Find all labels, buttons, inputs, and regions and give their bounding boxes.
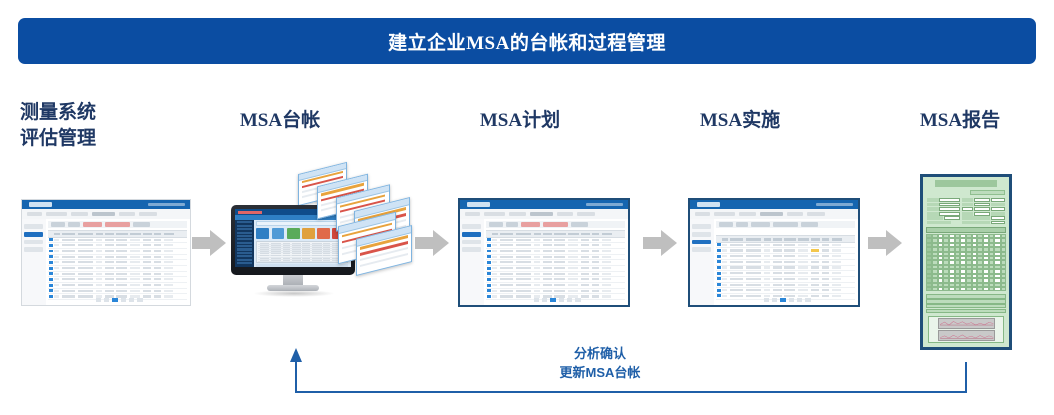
- sidebar-item[interactable]: [462, 240, 481, 245]
- table-cell: [534, 284, 541, 286]
- table-cell: [500, 267, 512, 269]
- filter-control[interactable]: [801, 222, 818, 227]
- table-column-header: [568, 233, 578, 236]
- table-cell: [798, 244, 808, 246]
- table-cell: [773, 244, 781, 246]
- table-cell: [773, 278, 781, 280]
- kpi-tile[interactable]: [256, 228, 269, 239]
- table-cell: [143, 284, 151, 286]
- row-checkbox[interactable]: [487, 272, 491, 275]
- table-cell: [543, 256, 551, 258]
- table-cell: [105, 284, 113, 286]
- table-cell: [500, 273, 512, 275]
- row-checkbox[interactable]: [49, 284, 53, 287]
- page-button[interactable]: [772, 298, 778, 302]
- table-cell: [96, 250, 103, 252]
- table-cell: [164, 244, 174, 246]
- table-cell: [154, 250, 161, 252]
- table-cell: [568, 250, 578, 252]
- table-cell: [534, 261, 541, 263]
- row-checkbox[interactable]: [49, 267, 53, 270]
- table-cell: [62, 284, 74, 286]
- dashboard-table-cell: [302, 251, 310, 252]
- report-input-field: [991, 207, 1005, 211]
- dashboard-sidebar-item[interactable]: [237, 221, 252, 223]
- table-cell: [143, 278, 151, 280]
- table-cell: [730, 249, 742, 251]
- row-checkbox[interactable]: [487, 289, 491, 292]
- stage-label-measurement-system-evaluation: 测量系统 评估管理: [20, 100, 160, 151]
- table-cell: [784, 266, 795, 268]
- filter-control[interactable]: [51, 222, 65, 227]
- table-cell: [746, 272, 761, 274]
- kpi-tile[interactable]: [272, 228, 285, 239]
- app-filter-bar: [486, 221, 625, 229]
- kpi-tile[interactable]: [302, 228, 315, 239]
- table-cell: [543, 261, 551, 263]
- dashboard-table-cell: [260, 253, 269, 254]
- flow-arrow-2: [415, 230, 449, 256]
- table-cell: [581, 284, 589, 286]
- row-checkbox[interactable]: [717, 277, 721, 280]
- table-column-header: [592, 233, 600, 236]
- table-cell: [773, 261, 781, 263]
- report-field-label: [927, 203, 938, 207]
- table-cell: [116, 290, 127, 292]
- table-cell: [784, 249, 795, 251]
- dashboard-sidebar-item[interactable]: [237, 255, 252, 257]
- table-cell: [105, 244, 113, 246]
- sidebar-item[interactable]: [24, 224, 43, 229]
- stage-thumbnail-msa-plan[interactable]: [460, 200, 628, 305]
- table-cell: [54, 250, 60, 252]
- table-cell: [764, 284, 771, 286]
- dashboard-sidebar-item[interactable]: [237, 252, 252, 254]
- table-cell: [784, 244, 795, 246]
- table-cell: [722, 244, 728, 246]
- app-tab[interactable]: [509, 212, 526, 216]
- table-cell: [143, 250, 151, 252]
- row-checkbox[interactable]: [49, 261, 53, 264]
- dashboard-toolbar: [256, 221, 348, 226]
- table-cell: [746, 284, 761, 286]
- sidebar-item[interactable]: [692, 240, 711, 245]
- dashboard-table-cell: [323, 260, 330, 261]
- table-cell: [773, 249, 781, 251]
- table-cell: [516, 267, 531, 269]
- row-checkbox[interactable]: [717, 243, 721, 246]
- table-cell: [534, 239, 541, 241]
- app-tab[interactable]: [739, 212, 756, 216]
- table-column-header: [130, 233, 140, 236]
- filter-control[interactable]: [83, 222, 102, 227]
- table-cell: [773, 289, 781, 291]
- report-field-label: [962, 198, 973, 202]
- app-tab[interactable]: [92, 212, 116, 216]
- sidebar-item[interactable]: [24, 232, 43, 237]
- dashboard-table-cell: [271, 260, 282, 261]
- table-cell: [492, 261, 498, 263]
- app-tab[interactable]: [557, 212, 572, 216]
- table-cell: [534, 250, 541, 252]
- kpi-tile[interactable]: [317, 228, 330, 239]
- table-cell: [568, 267, 578, 269]
- page-button[interactable]: [559, 298, 565, 302]
- table-column-header: [164, 233, 174, 236]
- table-cell: [730, 266, 742, 268]
- row-checkbox[interactable]: [717, 283, 721, 286]
- table-cell: [62, 290, 74, 292]
- dashboard-table-cell: [260, 258, 269, 259]
- table-cell: [130, 250, 140, 252]
- dashboard-sidebar-item[interactable]: [237, 228, 252, 230]
- table-cell: [773, 284, 781, 286]
- table-cell: [143, 267, 151, 269]
- title-banner: 建立企业MSA的台帐和过程管理: [18, 18, 1036, 64]
- table-cell: [62, 239, 74, 241]
- table-cell: [730, 244, 742, 246]
- table-cell: [130, 239, 140, 241]
- dashboard-table-cell: [271, 251, 282, 252]
- table-cell: [554, 244, 565, 246]
- report-summary-row: [926, 299, 1007, 303]
- dashboard-sidebar-item[interactable]: [237, 262, 252, 264]
- report-input-field: [939, 198, 960, 202]
- table-cell: [543, 290, 551, 292]
- sidebar-item[interactable]: [462, 247, 481, 252]
- app-tab[interactable]: [760, 212, 784, 216]
- row-checkbox[interactable]: [49, 289, 53, 292]
- dashboard-table-cell: [302, 260, 310, 261]
- arrow-head: [661, 230, 677, 256]
- row-checkbox[interactable]: [487, 238, 491, 241]
- row-checkbox[interactable]: [487, 267, 491, 270]
- report-header-form: [926, 197, 1007, 224]
- sidebar-item[interactable]: [462, 224, 481, 229]
- app-tab[interactable]: [484, 212, 504, 216]
- table-cell: [832, 249, 842, 251]
- table-cell: [154, 290, 161, 292]
- table-cell: [592, 239, 599, 241]
- filter-control[interactable]: [719, 222, 733, 227]
- table-cell: [822, 266, 829, 268]
- sidebar-item[interactable]: [24, 240, 43, 245]
- report-input-field: [974, 203, 990, 207]
- table-cell: [534, 273, 541, 275]
- table-cell: [500, 256, 512, 258]
- report-field-label: [991, 212, 1005, 216]
- dashboard-table-cell: [283, 249, 290, 250]
- table-cell: [130, 284, 140, 286]
- report-field-label: [962, 216, 990, 220]
- arrow-head: [886, 230, 902, 256]
- table-cell: [96, 244, 103, 246]
- table-column-header: [96, 233, 104, 236]
- row-checkbox[interactable]: [49, 272, 53, 275]
- filter-control[interactable]: [571, 222, 588, 227]
- table-cell: [764, 244, 771, 246]
- table-cell: [116, 261, 127, 263]
- stage-thumbnail-msa-report[interactable]: [920, 174, 1012, 350]
- row-checkbox[interactable]: [487, 244, 491, 247]
- filter-control[interactable]: [489, 222, 503, 227]
- row-checkbox[interactable]: [717, 255, 721, 258]
- table-cell: [568, 278, 578, 280]
- table-cell: [554, 273, 565, 275]
- app-tab[interactable]: [714, 212, 734, 216]
- page-button[interactable]: [550, 298, 556, 302]
- dashboard-sidebar-item[interactable]: [237, 259, 252, 261]
- app-tab[interactable]: [807, 212, 825, 216]
- stage-thumbnail-msa-execution[interactable]: [690, 200, 858, 305]
- table-cell: [822, 249, 829, 251]
- filter-control[interactable]: [751, 222, 770, 227]
- report-input-field: [939, 212, 960, 216]
- diagram-canvas: 建立企业MSA的台帐和过程管理 测量系统 评估管理 MSA台帐 MSA计划 MS…: [0, 0, 1054, 415]
- report-field-label: [927, 207, 938, 211]
- page-button[interactable]: [534, 298, 540, 302]
- table-cell: [78, 267, 93, 269]
- table-cell: [96, 239, 103, 241]
- table-cell: [722, 266, 728, 268]
- table-cell: [164, 261, 174, 263]
- table-cell: [798, 261, 808, 263]
- table-column-header: [105, 233, 114, 236]
- kpi-tile[interactable]: [287, 228, 300, 239]
- table-cell: [105, 239, 113, 241]
- row-checkbox[interactable]: [487, 255, 491, 258]
- report-field-label: [927, 221, 951, 225]
- report-input-field: [991, 216, 1005, 220]
- control-chart-xbar: [938, 318, 996, 329]
- row-checkbox[interactable]: [49, 278, 53, 281]
- sidebar-item[interactable]: [692, 224, 711, 229]
- app-user-menu: [816, 203, 853, 206]
- row-checkbox[interactable]: [717, 249, 721, 252]
- table-cell: [543, 284, 551, 286]
- table-cell: [534, 278, 541, 280]
- page-button[interactable]: [805, 298, 811, 302]
- filter-control[interactable]: [543, 222, 568, 227]
- report-input-field: [939, 207, 960, 211]
- app-tab[interactable]: [695, 212, 710, 216]
- filter-control[interactable]: [773, 222, 798, 227]
- report-input-field: [991, 221, 1005, 225]
- filter-control[interactable]: [68, 222, 80, 227]
- table-cell: [764, 249, 771, 251]
- app-tab[interactable]: [465, 212, 480, 216]
- table-cell: [811, 261, 819, 263]
- table-cell: [730, 255, 742, 257]
- app-tab[interactable]: [71, 212, 88, 216]
- page-button[interactable]: [121, 298, 127, 302]
- page-button[interactable]: [567, 298, 573, 302]
- table-cell: [492, 290, 498, 292]
- table-cell: [784, 284, 795, 286]
- table-cell: [764, 278, 771, 280]
- app-tab[interactable]: [46, 212, 66, 216]
- table-cell: [54, 278, 60, 280]
- row-checkbox[interactable]: [717, 289, 721, 292]
- dashboard-table-cell: [292, 245, 301, 246]
- stage-label-msa-report: MSA报告: [870, 108, 1050, 134]
- row-checkbox[interactable]: [487, 284, 491, 287]
- filter-control[interactable]: [506, 222, 518, 227]
- table-cell: [130, 267, 140, 269]
- app-tab[interactable]: [530, 212, 554, 216]
- dashboard-table-cell: [302, 255, 310, 256]
- row-checkbox[interactable]: [487, 250, 491, 253]
- row-checkbox[interactable]: [49, 250, 53, 253]
- dashboard-table-cell: [312, 243, 322, 244]
- arrow-head: [433, 230, 449, 256]
- dashboard-table-cell: [271, 245, 282, 246]
- stage-thumbnail-measurement-system-evaluation[interactable]: [22, 200, 190, 305]
- dashboard-sidebar-item[interactable]: [237, 248, 252, 250]
- app-tab[interactable]: [119, 212, 134, 216]
- app-content: [714, 219, 858, 305]
- dashboard-sidebar-item[interactable]: [237, 238, 252, 240]
- row-checkbox[interactable]: [717, 272, 721, 275]
- table-cell: [54, 261, 60, 263]
- sidebar-item[interactable]: [24, 247, 43, 252]
- sidebar-item[interactable]: [462, 232, 481, 237]
- table-cell: [568, 244, 578, 246]
- table-cell: [602, 239, 612, 241]
- page-button[interactable]: [137, 298, 143, 302]
- table-cell: [554, 250, 565, 252]
- app-tab[interactable]: [27, 212, 42, 216]
- table-cell: [154, 284, 161, 286]
- app-filter-bar: [48, 221, 187, 229]
- table-cell: [543, 278, 551, 280]
- table-cell: [154, 244, 161, 246]
- dashboard-sidebar-item[interactable]: [237, 235, 252, 237]
- table-cell: [164, 267, 174, 269]
- table-cell: [798, 266, 808, 268]
- row-checkbox[interactable]: [717, 266, 721, 269]
- filter-control[interactable]: [521, 222, 540, 227]
- table-cell: [78, 284, 93, 286]
- page-button[interactable]: [542, 298, 548, 302]
- report-title-bar: [935, 180, 997, 187]
- table-cell: [592, 256, 599, 258]
- table-pagination[interactable]: [716, 297, 855, 303]
- app-tab[interactable]: [787, 212, 802, 216]
- table-pagination[interactable]: [48, 297, 187, 303]
- table-cell: [568, 284, 578, 286]
- table-cell: [130, 290, 140, 292]
- table-cell: [143, 273, 151, 275]
- page-button[interactable]: [764, 298, 770, 302]
- table-cell: [116, 250, 127, 252]
- dashboard-sidebar-item[interactable]: [237, 225, 252, 227]
- monitor-shadow: [253, 290, 335, 297]
- page-button[interactable]: [789, 298, 795, 302]
- sidebar-item[interactable]: [692, 247, 711, 252]
- row-checkbox[interactable]: [49, 244, 53, 247]
- dashboard-table-cell: [283, 260, 290, 261]
- app-logo: [467, 202, 491, 207]
- table-cell: [543, 239, 551, 241]
- table-cell: [500, 250, 512, 252]
- table-cell: [543, 244, 551, 246]
- table-column-header: [154, 233, 162, 236]
- table-cell: [78, 239, 93, 241]
- dashboard-table-cell: [312, 255, 322, 256]
- row-checkbox[interactable]: [487, 278, 491, 281]
- report-field-label: [927, 216, 943, 220]
- page-button[interactable]: [96, 298, 102, 302]
- table-cell: [78, 261, 93, 263]
- app-user-menu: [148, 203, 185, 206]
- table-column-header: [811, 238, 820, 241]
- filter-control[interactable]: [736, 222, 748, 227]
- dashboard-table-cell: [292, 243, 301, 244]
- report-summary-rows: [926, 294, 1007, 313]
- table-column-header: [516, 233, 532, 236]
- row-checkbox[interactable]: [487, 261, 491, 264]
- table-cell: [722, 272, 728, 274]
- dashboard-table-cell: [260, 249, 269, 250]
- app-tab[interactable]: [139, 212, 157, 216]
- report-field-label: [927, 212, 938, 216]
- table-cell: [730, 278, 742, 280]
- row-checkbox[interactable]: [49, 255, 53, 258]
- sidebar-item[interactable]: [692, 232, 711, 237]
- dashboard-table-cell: [283, 247, 290, 248]
- table-cell: [722, 284, 728, 286]
- filter-control[interactable]: [105, 222, 130, 227]
- table-column-header: [78, 233, 94, 236]
- table-column-header: [543, 233, 552, 236]
- table-cell: [811, 278, 819, 280]
- table-cell: [581, 261, 589, 263]
- table-cell: [764, 272, 771, 274]
- table-cell: [62, 278, 74, 280]
- dashboard-kpi-tiles: [256, 228, 348, 239]
- table-cell: [116, 239, 127, 241]
- page-button[interactable]: [575, 298, 581, 302]
- table-cell: [822, 272, 829, 274]
- filter-control[interactable]: [133, 222, 150, 227]
- row-checkbox[interactable]: [717, 260, 721, 263]
- table-cell: [54, 256, 60, 258]
- table-pagination[interactable]: [486, 297, 625, 303]
- dashboard-sidebar-item[interactable]: [237, 245, 252, 247]
- app-tab[interactable]: [577, 212, 595, 216]
- row-checkbox[interactable]: [49, 238, 53, 241]
- page-button[interactable]: [797, 298, 803, 302]
- page-button[interactable]: [104, 298, 110, 302]
- page-button[interactable]: [780, 298, 786, 302]
- table-column-header: [773, 238, 782, 241]
- table-cell: [500, 284, 512, 286]
- table-cell: [592, 278, 599, 280]
- dashboard-sidebar-item[interactable]: [237, 242, 252, 244]
- table-cell: [798, 284, 808, 286]
- page-button[interactable]: [112, 298, 118, 302]
- table-cell: [96, 278, 103, 280]
- table-cell: [62, 273, 74, 275]
- page-button[interactable]: [129, 298, 135, 302]
- table-cell: [143, 290, 151, 292]
- table-cell: [602, 244, 612, 246]
- table-cell: [554, 239, 565, 241]
- table-cell: [154, 273, 161, 275]
- dashboard-sidebar-item[interactable]: [237, 232, 252, 234]
- table-cell: [516, 239, 531, 241]
